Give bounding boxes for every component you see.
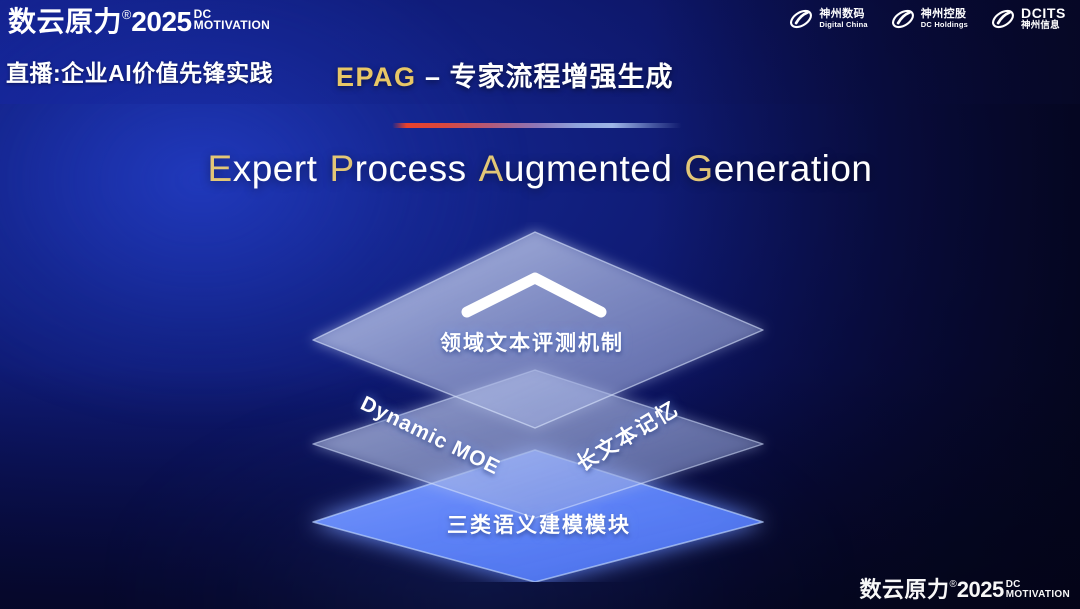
event-logo: 数云原力®2025 DC MOTIVATION (8, 8, 270, 36)
partner-logo-digital-china: 神州数码 Digital China (788, 6, 867, 32)
partner-logo-group: 神州数码 Digital China 神州控股 DC Holdings (788, 6, 1066, 32)
partner-name-en: DC Holdings (921, 21, 968, 29)
partner-name-cn: 神州信息 (1021, 21, 1066, 31)
stack-layer-middle-surface (313, 370, 763, 518)
watermark-registered-mark: ® (949, 580, 956, 590)
subtitle-rest-generation: eneration (714, 148, 873, 189)
stack-layer-middle-label-right: 长文本记忆 (570, 393, 684, 478)
watermark-logo-year: 2025 (957, 579, 1004, 601)
slide-title-abbr: EPAG (336, 62, 417, 92)
event-logo-cn: 数云原力 (8, 8, 122, 36)
stack-layer-middle-label-left: Dynamic MOE (356, 392, 503, 480)
watermark-dc-block: DC MOTIVATION (1006, 579, 1070, 599)
stack-layer-top-label: 领域文本评测机制 (440, 327, 624, 357)
slide-title-dash: – (417, 62, 450, 92)
title-divider (392, 123, 682, 128)
swirl-icon (890, 6, 916, 32)
swirl-icon (990, 6, 1016, 32)
slide-title-cn: 专家流程增强生成 (450, 62, 674, 92)
watermark-logo-cn: 数云原力 (859, 579, 949, 601)
event-logo-motivation: MOTIVATION (194, 20, 271, 31)
event-logo-dc-block: DC MOTIVATION (194, 8, 271, 32)
partner-text: 神州数码 Digital China (819, 9, 867, 29)
chevron-up-icon (467, 278, 601, 312)
event-logo-registered-mark: ® (122, 9, 131, 22)
subtitle-rest-expert: xpert (233, 148, 318, 189)
slide-canvas: 数云原力®2025 DC MOTIVATION 直播:企业AI价值先锋实践 EP… (0, 0, 1080, 609)
watermark-logo: 数云原力®2025 DC MOTIVATION (859, 579, 1070, 601)
subtitle-rest-process: rocess (355, 148, 467, 189)
subtitle-cap-g: G (684, 148, 713, 189)
subtitle-cap-e: E (208, 148, 233, 189)
partner-logo-dcits: DCITS 神州信息 (990, 6, 1066, 32)
partner-text: 神州控股 DC Holdings (921, 9, 968, 29)
subtitle-cap-a: A (479, 148, 504, 189)
watermark-motivation: MOTIVATION (1006, 590, 1070, 600)
partner-logo-dc-holdings: 神州控股 DC Holdings (890, 6, 968, 32)
swirl-icon (788, 6, 814, 32)
layer-stack-diagram: 领域文本评测机制 Dynamic MOE 长文本记忆 三类语义建模模块 (295, 222, 785, 582)
english-subtitle: ExpertProcessAugmentedGeneration (0, 148, 1080, 190)
subtitle-cap-p: P (329, 148, 354, 189)
live-session-label: 直播:企业AI价值先锋实践 (6, 54, 273, 88)
stack-layer-bottom-label: 三类语义建模模块 (447, 509, 631, 539)
event-logo-year: 2025 (131, 8, 191, 36)
stack-layer-middle[interactable] (313, 370, 763, 518)
subtitle-rest-augmented: ugmented (504, 148, 673, 189)
slide-title: EPAG – 专家流程增强生成 (336, 55, 674, 94)
partner-text: DCITS 神州信息 (1021, 6, 1066, 31)
partner-name-en: Digital China (819, 21, 867, 29)
